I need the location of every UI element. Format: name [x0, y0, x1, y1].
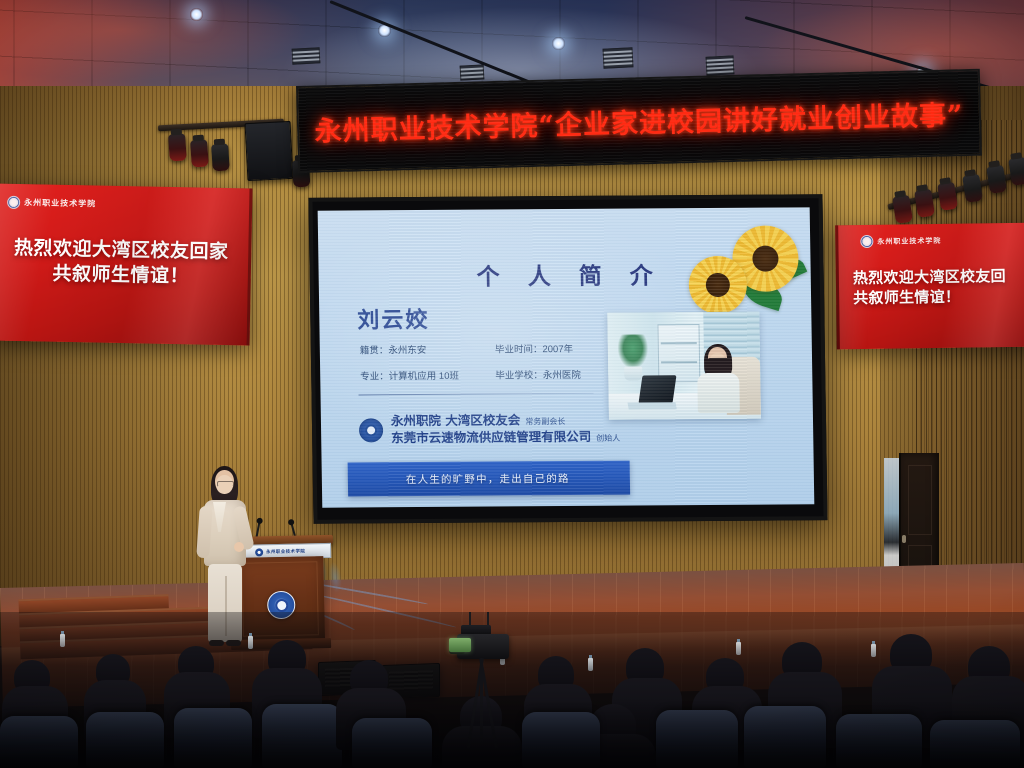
fact-row: 籍贯：永州东安 毕业时间：2007年: [360, 345, 620, 356]
water-bottle: [60, 634, 65, 647]
organization-name-1: 永州职院 大湾区校友会: [391, 412, 521, 428]
organization-role-2: 创始人: [596, 434, 620, 443]
photo-person-body: [697, 373, 740, 413]
ceiling-vent: [602, 47, 633, 69]
organization-block: 永州职院 大湾区校友会常务副会长 东莞市云速物流供应链管理有限公司创始人: [359, 412, 621, 448]
welcome-banner-left: 永州职业技术学院 热烈欢迎大湾区校友回家 共叙师生情谊！: [0, 184, 252, 346]
fact-graduation-year: 毕业时间：2007年: [495, 345, 620, 355]
school-seal-icon: [7, 196, 20, 209]
presenter-hand: [234, 542, 244, 552]
banner-right-logo-text: 永州职业技术学院: [877, 235, 941, 246]
camera-lcd-screen: [449, 638, 471, 652]
fact-school: 毕业学校：永州医院: [495, 370, 620, 380]
slide-quote-bar: 在人生的旷野中，走出自己的路: [348, 461, 631, 497]
stage-light: [168, 133, 187, 161]
organization-name-2: 东莞市云速物流供应链管理有限公司: [391, 429, 591, 445]
speaker-cabinet: [245, 121, 294, 181]
stage-light: [211, 143, 230, 171]
water-bottle: [871, 644, 876, 657]
ceiling-spotlight: [190, 8, 203, 21]
banner-right-text: 热烈欢迎大湾区校友回 共叙师生情谊！: [853, 266, 1024, 309]
projection-screen: 个 人 简 介 刘云姣 籍贯：永州东安 毕业时间：2007年 专业：计算机应用 …: [308, 194, 827, 524]
school-seal-icon: [860, 235, 873, 248]
door-handle[interactable]: [902, 535, 906, 543]
ceiling-vent: [292, 47, 321, 64]
organization-role-1: 常务副会长: [525, 417, 565, 426]
ceiling-vent: [706, 55, 735, 75]
banner-left-logo-text: 永州职业技术学院: [24, 197, 96, 209]
fact-row: 专业：计算机应用 10班 毕业学校：永州医院: [360, 370, 620, 381]
stage-light: [190, 139, 209, 167]
foreground-darkening: [0, 700, 1024, 768]
water-bottle: [248, 636, 253, 649]
photo-plant-pot: [624, 366, 642, 380]
banner-left-text: 热烈欢迎大湾区校友回家 共叙师生情谊！: [0, 236, 248, 291]
photo-shelf: [657, 324, 700, 382]
led-banner-text: 永州职业技术学院“企业家进校园讲好就业创业故事”: [306, 93, 972, 149]
slide-quote-text: 在人生的旷野中，走出自己的路: [348, 470, 570, 487]
auditorium-scene: 永州职业技术学院“企业家进校园讲好就业创业故事” 永州职业技术学院 热烈欢迎大湾…: [0, 0, 1024, 768]
presenter-photo: [607, 312, 761, 420]
organization-row: 东莞市云速物流供应链管理有限公司创始人: [391, 429, 620, 447]
water-bottle: [736, 642, 741, 655]
banner-right-line1: 热烈欢迎大湾区校友回: [853, 266, 1024, 289]
photo-plant: [618, 334, 649, 368]
podium-plate-text: 永州职业技术学院: [266, 548, 305, 555]
fact-major: 专业：计算机应用 10班: [360, 371, 477, 381]
organization-row: 永州职院 大湾区校友会常务副会长: [391, 412, 620, 430]
water-bottle: [588, 658, 593, 671]
led-headline-banner: 永州职业技术学院“企业家进校园讲好就业创业故事”: [296, 69, 982, 173]
banner-left-line1: 热烈欢迎大湾区校友回家: [0, 236, 248, 266]
banner-left-logo: 永州职业技术学院: [7, 196, 96, 211]
welcome-banner-right: 永州职业技术学院 热烈欢迎大湾区校友回 共叙师生情谊！: [835, 223, 1024, 350]
photo-person: [696, 347, 741, 413]
presenter-facts: 籍贯：永州东安 毕业时间：2007年 专业：计算机应用 10班 毕业学校：永州医…: [360, 345, 621, 398]
photo-laptop: [638, 375, 676, 403]
glasses-icon: [217, 481, 234, 487]
organization-lines: 永州职院 大湾区校友会常务副会长 东莞市云速物流供应链管理有限公司创始人: [391, 412, 621, 447]
fact-hometown: 籍贯：永州东安: [360, 346, 477, 356]
presentation-slide: 个 人 简 介 刘云姣 籍贯：永州东安 毕业时间：2007年 专业：计算机应用 …: [318, 207, 815, 507]
ceiling-spotlight: [552, 37, 565, 50]
banner-right-line2: 共叙师生情谊！: [853, 286, 1024, 309]
banner-left-line2: 共叙师生情谊！: [0, 261, 248, 291]
school-seal-icon: [255, 548, 263, 556]
organization-seal-icon: [359, 418, 383, 442]
ceiling-vent: [460, 64, 485, 80]
banner-right-logo: 永州职业技术学院: [860, 234, 941, 248]
presenter-name: 刘云姣: [357, 302, 430, 334]
